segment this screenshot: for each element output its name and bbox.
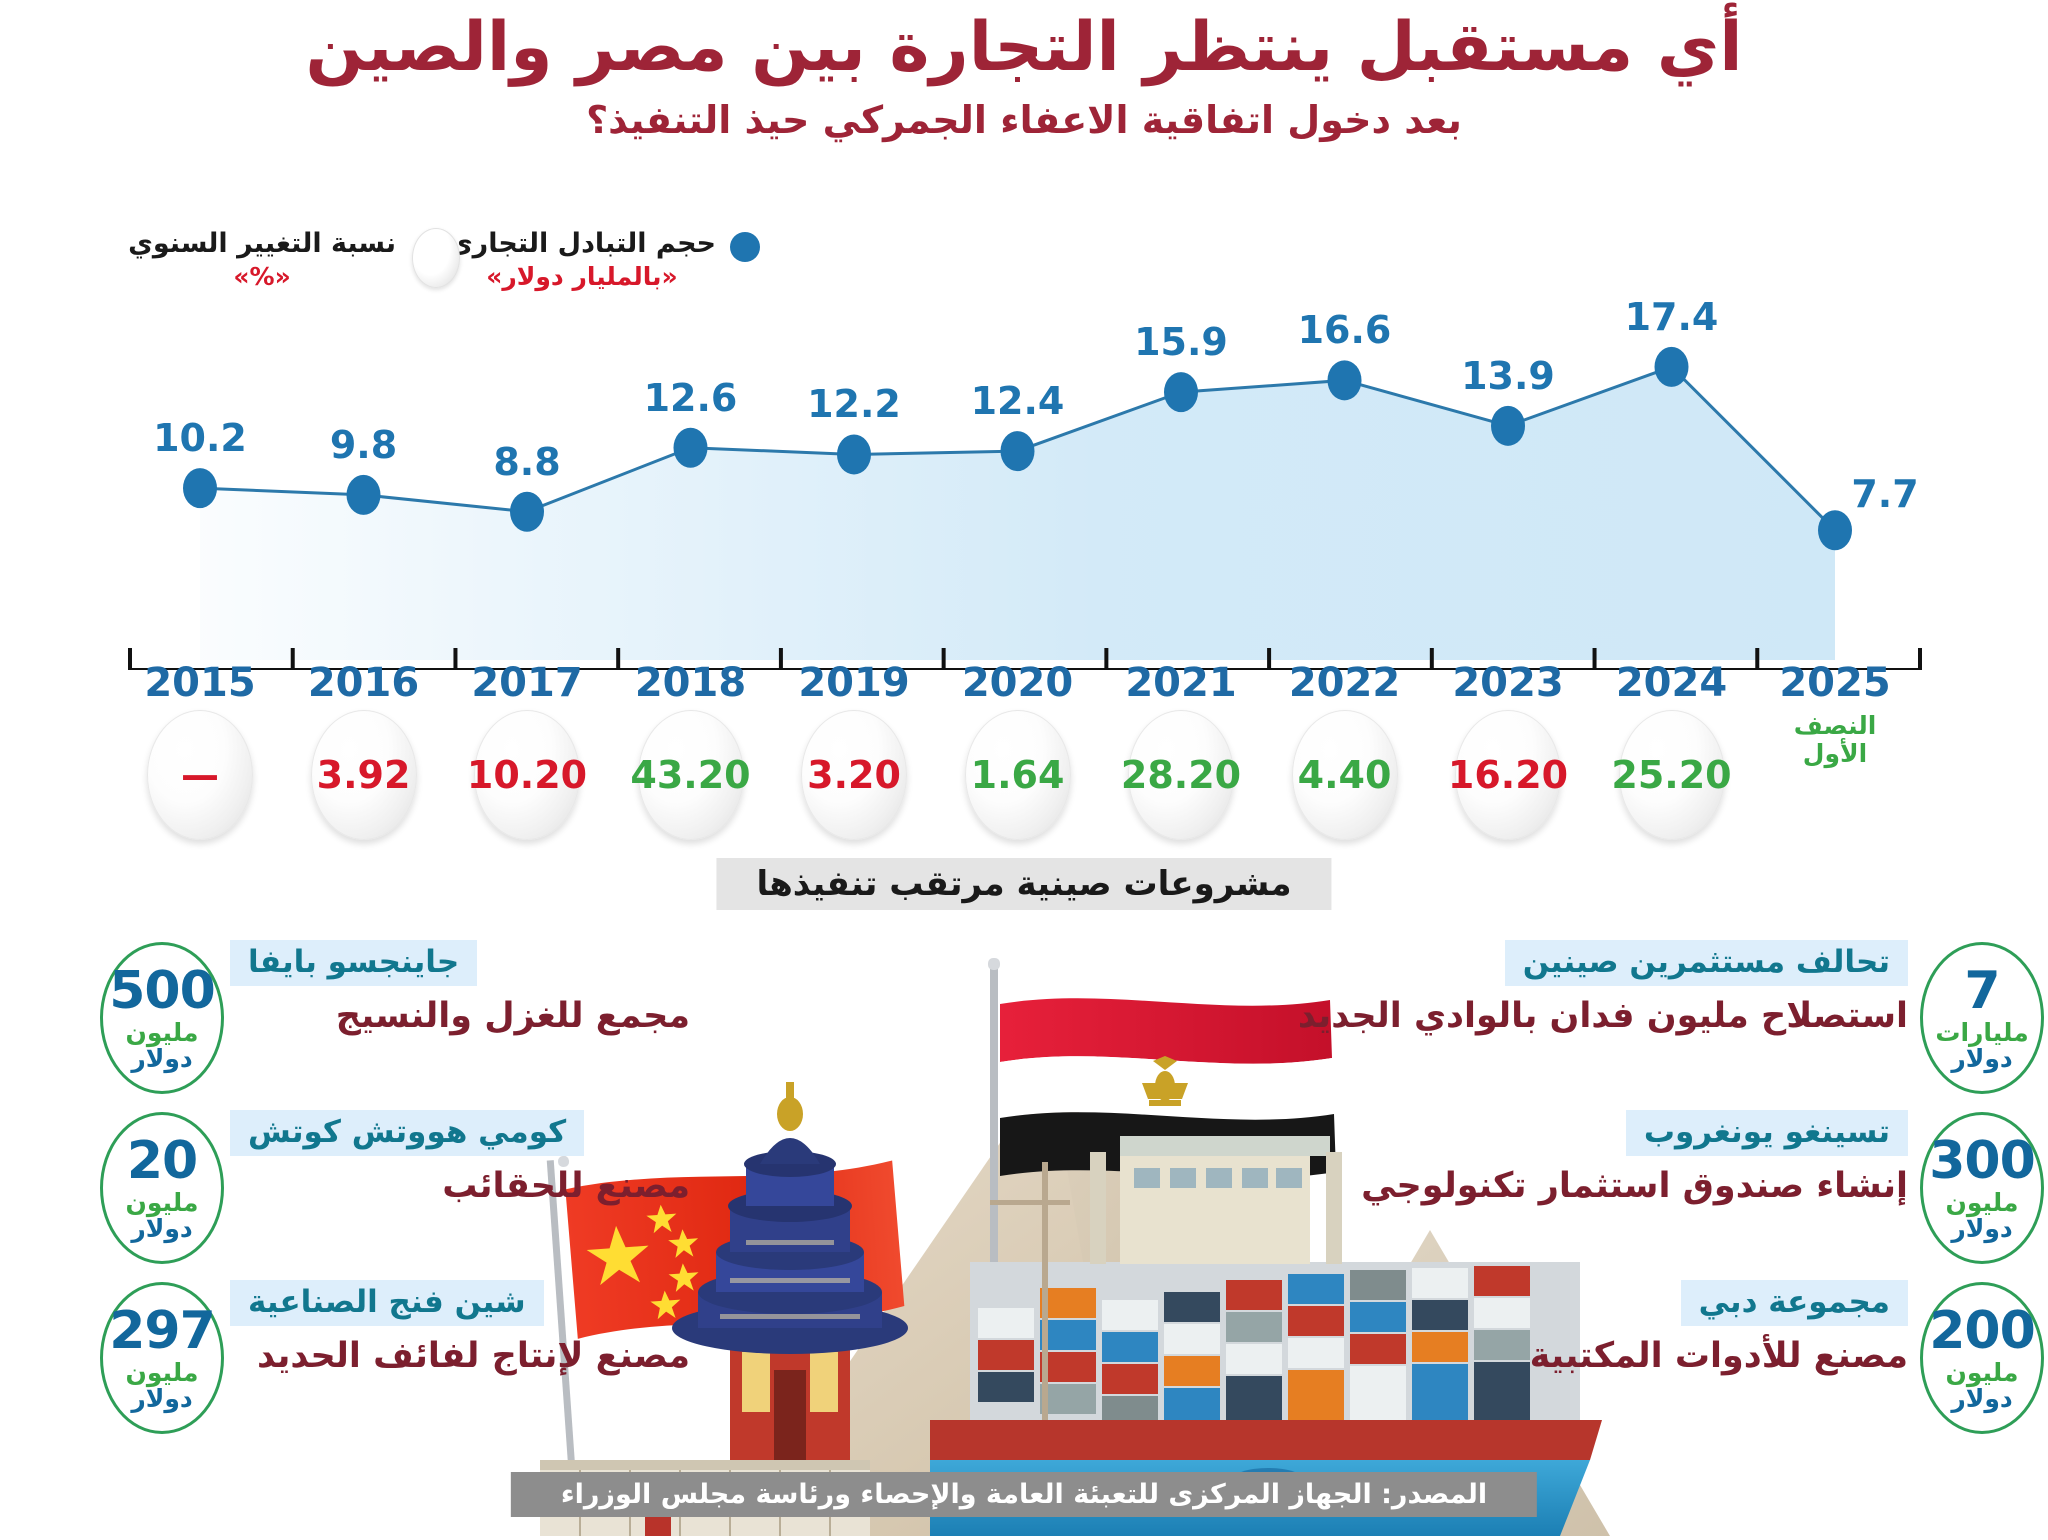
projects-left-column: 500مليوندولارجاينجسو بايفامجمع للغزل وال…	[0, 930, 760, 1450]
annual-change-bubbles: —3.9210.2043.203.201.6428.204.4016.2025.…	[0, 710, 2048, 850]
project-text-block: كومي هووتش كوتشمصنع للحقائب	[230, 1110, 690, 1206]
page-title-block: أي مستقبل ينتظر التجارة بين مصر والصين ب…	[0, 10, 2048, 142]
project-text-block: جاينجسو بايفامجمع للغزل والنسيج	[230, 940, 690, 1036]
project-description: مصنع لإنتاج لفائف الحديد	[230, 1336, 690, 1376]
project-description: استصلاح مليون فدان بالوادي الجديد	[1298, 996, 1908, 1036]
project-amount: 500	[109, 965, 215, 1017]
project-currency: دولار	[131, 1216, 192, 1241]
project-description: مصنع للأدوات المكتبية	[1530, 1336, 1908, 1376]
project-text-block: تسينغو يونغروبإنشاء صندوق استثمار تكنولو…	[1361, 1110, 1908, 1206]
project-item[interactable]: 200مليوندولارمجموعة دبيمصنع للأدوات المك…	[1268, 1270, 2048, 1430]
annual-change-value: 25.20	[1611, 753, 1731, 797]
project-text-block: تحالف مستثمرين صينيناستصلاح مليون فدان ب…	[1298, 940, 1908, 1036]
project-amount-badge: 20مليوندولار	[100, 1112, 224, 1264]
data-point-marker	[1001, 431, 1035, 471]
project-name-bar: تسينغو يونغروب	[1626, 1110, 1908, 1156]
project-name-bar: مجموعة دبي	[1681, 1280, 1908, 1326]
data-point-marker	[347, 475, 381, 515]
annual-change-value: 43.20	[630, 753, 750, 797]
project-item[interactable]: 7ملياراتدولارتحالف مستثمرين صينيناستصلاح…	[1268, 930, 2048, 1090]
annual-change-bubble-2016: 3.92	[311, 710, 417, 840]
annual-change-value: 4.40	[1298, 753, 1392, 797]
project-amount-badge: 7ملياراتدولار	[1920, 942, 2044, 1094]
year-label-2015: 2015	[144, 660, 255, 706]
year-label-2020: 2020	[962, 660, 1073, 706]
project-unit: مليون	[1946, 1190, 2019, 1215]
project-unit: مليون	[126, 1020, 199, 1045]
annual-change-value: 16.20	[1448, 753, 1568, 797]
project-item[interactable]: 20مليوندولاركومي هووتش كوتشمصنع للحقائب	[0, 1100, 720, 1260]
project-item[interactable]: 300مليوندولارتسينغو يونغروبإنشاء صندوق ا…	[1268, 1100, 2048, 1260]
annual-change-value: 28.20	[1121, 753, 1241, 797]
data-point-value-label: 16.6	[1298, 308, 1392, 352]
project-item[interactable]: 297مليوندولارشين فنج الصناعيةمصنع لإنتاج…	[0, 1270, 720, 1430]
project-description: مجمع للغزل والنسيج	[230, 996, 690, 1036]
annual-change-bubble-2022: 4.40	[1292, 710, 1398, 840]
annual-change-bubble-2021: 28.20	[1128, 710, 1234, 840]
project-amount: 7	[1964, 965, 1999, 1017]
data-point-value-label: 9.8	[330, 423, 397, 467]
page-subtitle: بعد دخول اتفاقية الاعفاء الجمركي حيذ الت…	[0, 98, 2048, 142]
project-text-block: مجموعة دبيمصنع للأدوات المكتبية	[1530, 1280, 1908, 1376]
projects-right-column: 7ملياراتدولارتحالف مستثمرين صينيناستصلاح…	[1248, 930, 2048, 1450]
project-unit: مليون	[126, 1360, 199, 1385]
data-point-value-label: 12.6	[644, 376, 738, 420]
project-amount-badge: 297مليوندولار	[100, 1282, 224, 1434]
data-point-value-label: 12.4	[971, 379, 1065, 423]
no-data-dash: —	[181, 766, 219, 785]
project-name: كومي هووتش كوتش	[248, 1114, 566, 1150]
year-label-2025: 2025	[1779, 660, 1890, 706]
year-label-2019: 2019	[798, 660, 909, 706]
project-unit: مليون	[126, 1190, 199, 1215]
page-title: أي مستقبل ينتظر التجارة بين مصر والصين	[0, 10, 2048, 86]
project-amount-badge: 200مليوندولار	[1920, 1282, 2044, 1434]
annual-change-value: 3.92	[317, 753, 411, 797]
project-description: إنشاء صندوق استثمار تكنولوجي	[1361, 1166, 1908, 1206]
data-point-marker	[1491, 406, 1525, 446]
data-point-marker	[1164, 372, 1198, 412]
project-name-bar: تحالف مستثمرين صينين	[1505, 940, 1908, 986]
data-point-marker	[183, 468, 217, 508]
project-currency: دولار	[1951, 1046, 2012, 1071]
annual-change-value: 10.20	[467, 753, 587, 797]
year-label-2024: 2024	[1616, 660, 1727, 706]
trade-volume-area-chart: 10.29.88.812.612.212.415.916.613.917.47.…	[0, 150, 2048, 670]
year-label-2022: 2022	[1289, 660, 1400, 706]
projects-section-title: مشروعات صينية مرتقب تنفيذها	[756, 864, 1291, 904]
project-currency: دولار	[131, 1386, 192, 1411]
project-name-bar: كومي هووتش كوتش	[230, 1110, 584, 1156]
year-label-2018: 2018	[635, 660, 746, 706]
project-name-bar: شين فنج الصناعية	[230, 1280, 544, 1326]
year-label-2016: 2016	[308, 660, 419, 706]
annual-change-bubble-2019: 3.20	[801, 710, 907, 840]
project-currency: دولار	[1951, 1386, 2012, 1411]
annual-change-bubble-2015: —	[147, 710, 253, 840]
data-point-value-label: 8.8	[493, 440, 560, 484]
project-name: جاينجسو بايفا	[248, 944, 459, 980]
source-text: المصدر: الجهاز المركزى للتعبئة العامة وا…	[561, 1479, 1487, 1510]
annual-change-bubble-2018: 43.20	[638, 710, 744, 840]
annual-change-bubble-2017: 10.20	[474, 710, 580, 840]
project-unit: مليارات	[1935, 1020, 2028, 1045]
annual-change-value: 3.20	[807, 753, 901, 797]
data-point-value-label: 7.7	[1851, 472, 1918, 516]
project-name-bar: جاينجسو بايفا	[230, 940, 477, 986]
year-label-2017: 2017	[471, 660, 582, 706]
year-label-2021: 2021	[1125, 660, 1236, 706]
data-point-marker	[1328, 360, 1362, 400]
annual-change-bubble-2023: 16.20	[1455, 710, 1561, 840]
data-point-value-label: 15.9	[1134, 320, 1228, 364]
project-name: تحالف مستثمرين صينين	[1523, 944, 1890, 980]
project-name: شين فنج الصناعية	[248, 1284, 526, 1320]
project-amount-badge: 500مليوندولار	[100, 942, 224, 1094]
project-item[interactable]: 500مليوندولارجاينجسو بايفامجمع للغزل وال…	[0, 930, 720, 1090]
data-point-marker	[510, 492, 544, 532]
project-currency: دولار	[1951, 1216, 2012, 1241]
project-description: مصنع للحقائب	[230, 1166, 690, 1206]
data-point-value-label: 13.9	[1461, 354, 1555, 398]
annual-change-bubble-2024: 25.20	[1619, 710, 1725, 840]
data-point-marker	[837, 434, 871, 474]
project-amount-badge: 300مليوندولار	[1920, 1112, 2044, 1264]
project-name: تسينغو يونغروب	[1644, 1114, 1890, 1150]
data-point-marker	[674, 428, 708, 468]
project-amount: 20	[127, 1135, 197, 1187]
year-label-2023: 2023	[1452, 660, 1563, 706]
data-point-marker	[1655, 347, 1689, 387]
project-amount: 300	[1929, 1135, 2035, 1187]
data-point-marker	[1818, 510, 1852, 550]
project-amount: 200	[1929, 1305, 2035, 1357]
project-unit: مليون	[1946, 1360, 2019, 1385]
annual-change-value: 1.64	[971, 753, 1065, 797]
data-point-value-label: 10.2	[153, 416, 247, 460]
project-currency: دولار	[131, 1046, 192, 1071]
project-amount: 297	[109, 1305, 215, 1357]
project-name: مجموعة دبي	[1699, 1284, 1890, 1320]
project-text-block: شين فنج الصناعيةمصنع لإنتاج لفائف الحديد	[230, 1280, 690, 1376]
data-point-value-label: 17.4	[1625, 295, 1719, 339]
annual-change-bubble-2020: 1.64	[965, 710, 1071, 840]
source-bar: المصدر: الجهاز المركزى للتعبئة العامة وا…	[511, 1472, 1537, 1517]
data-point-value-label: 12.2	[807, 382, 901, 426]
